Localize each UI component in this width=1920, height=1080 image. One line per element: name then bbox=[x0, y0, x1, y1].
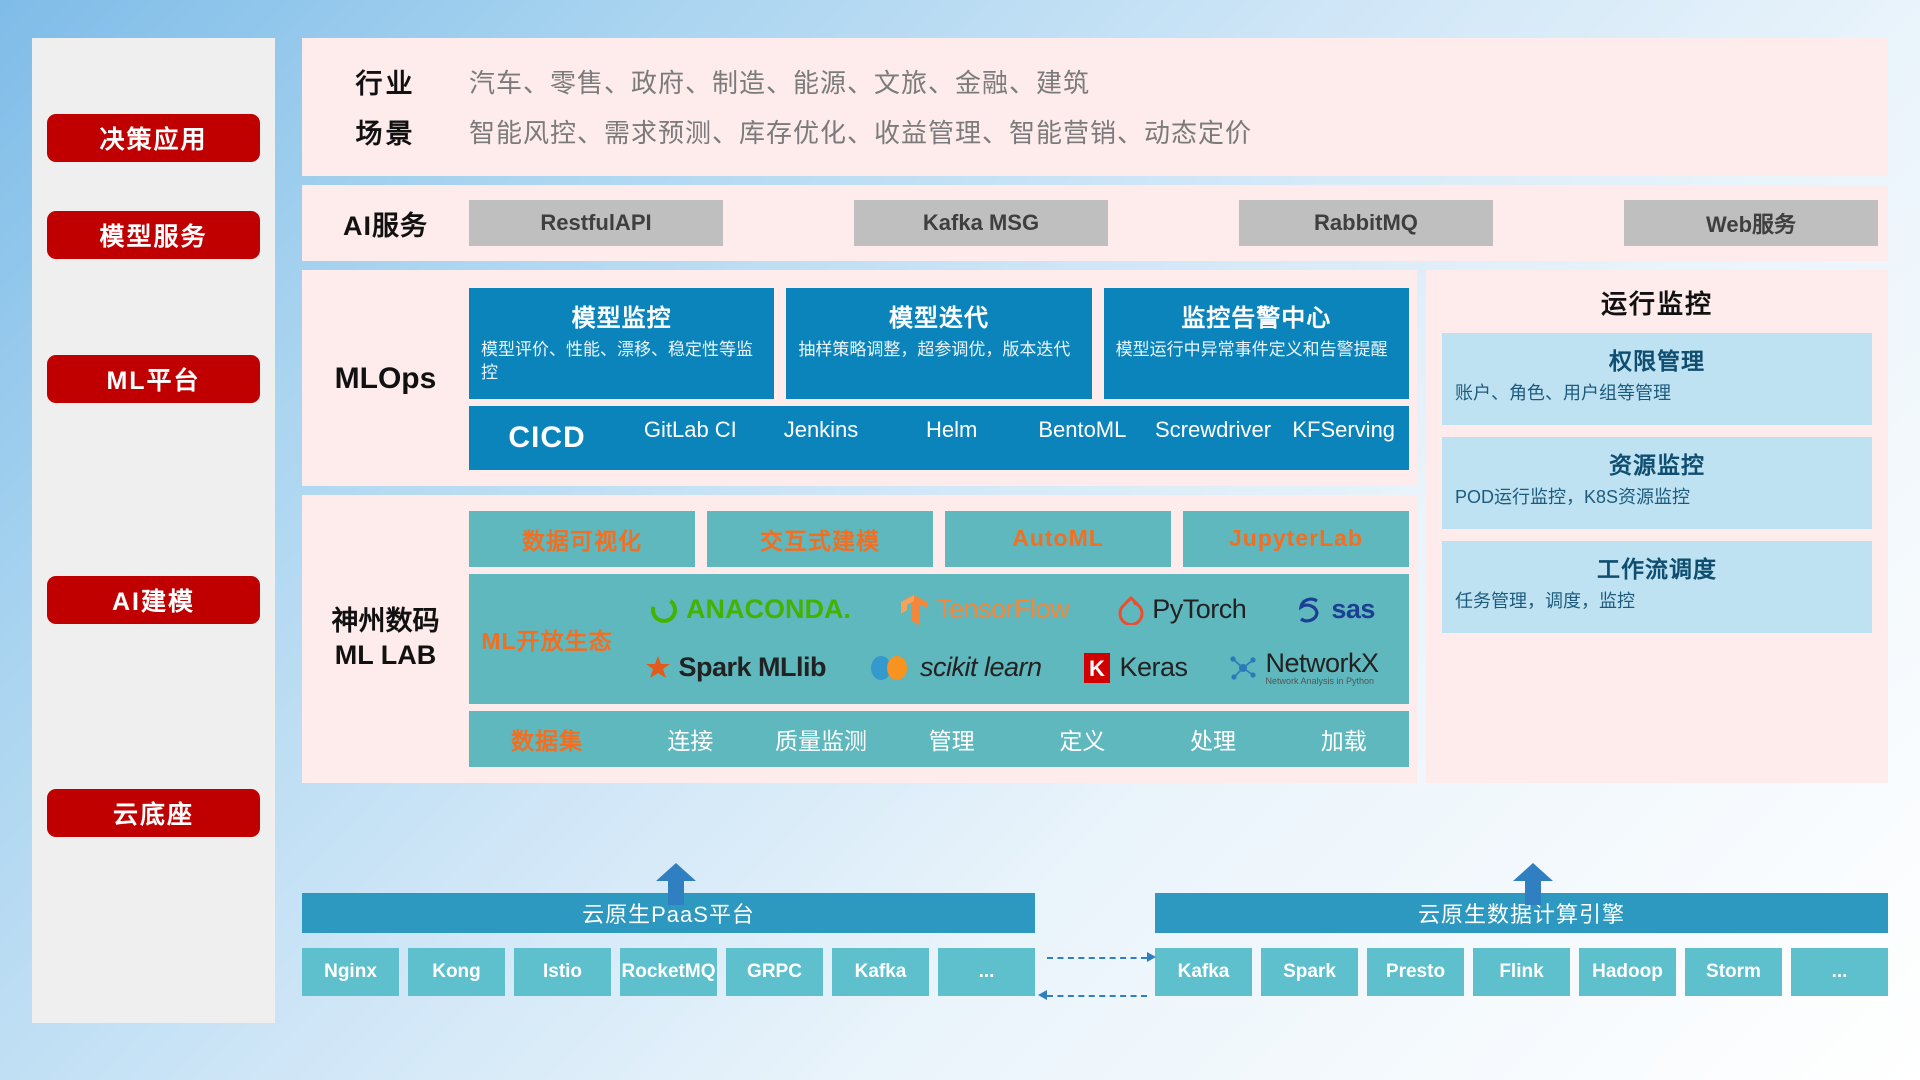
dataset-label: 数据集 bbox=[469, 722, 625, 756]
ml-lab-body: 数据可视化 交互式建模 AutoML JupyterLab ML开放生态 bbox=[469, 511, 1417, 767]
svg-text:K: K bbox=[1090, 656, 1106, 681]
architecture-diagram: 决策应用 模型服务 ML平台 AI建模 云底座 行业 汽车、零售、政府、制造、能… bbox=[0, 0, 1920, 1080]
decision-app-band: 行业 汽车、零售、政府、制造、能源、文旅、金融、建筑 场景 智能风控、需求预测、… bbox=[302, 38, 1888, 176]
mlops-card-title: 模型迭代 bbox=[798, 298, 1079, 333]
mlops-card-alert-center[interactable]: 监控告警中心 模型运行中异常事件定义和告警提醒 bbox=[1104, 288, 1409, 399]
connector-arrowhead-left-icon bbox=[1038, 990, 1047, 1000]
paas-tag-kong[interactable]: Kong bbox=[408, 948, 505, 996]
cloud-columns: 云原生PaaS平台 Nginx Kong Istio RocketMQ GRPC… bbox=[302, 893, 1888, 996]
cicd-item-list: GitLab CI Jenkins Helm BentoML Screwdriv… bbox=[625, 417, 1409, 459]
monitor-card-permission[interactable]: 权限管理 账户、角色、用户组等管理 bbox=[1442, 333, 1872, 425]
scikit-learn-icon bbox=[867, 653, 913, 683]
ai-modeling-band: 神州数码 ML LAB 数据可视化 交互式建模 AutoML JupyterLa… bbox=[302, 495, 1417, 783]
mlops-card-list: 模型监控 模型评价、性能、漂移、稳定性等监控 模型迭代 抽样策略调整，超参调优，… bbox=[469, 288, 1409, 399]
scenario-value: 智能风控、需求预测、库存优化、收益管理、智能营销、动态定价 bbox=[469, 113, 1252, 150]
tensorflow-logo-text: TensorFlow bbox=[936, 594, 1069, 625]
cicd-item-jenkins[interactable]: Jenkins bbox=[756, 417, 887, 459]
ml-ecosystem-label: ML开放生态 bbox=[469, 622, 625, 656]
cicd-label: CICD bbox=[469, 421, 625, 455]
cicd-item-gitlab-ci[interactable]: GitLab CI bbox=[625, 417, 756, 459]
ml-ecosystem-logos-row2: Spark MLlib scikit learn bbox=[625, 640, 1399, 696]
cicd-item-screwdriver[interactable]: Screwdriver bbox=[1148, 417, 1279, 459]
ai-service-label: AI服务 bbox=[302, 204, 469, 243]
anaconda-icon bbox=[649, 595, 679, 625]
monitor-card-title: 工作流调度 bbox=[1455, 550, 1859, 584]
keras-icon: K bbox=[1082, 652, 1112, 684]
mlops-label: MLOps bbox=[302, 288, 469, 470]
compute-engine-tag-list: Kafka Spark Presto Flink Hadoop Storm ..… bbox=[1155, 948, 1888, 996]
monitor-card-title: 资源监控 bbox=[1455, 446, 1859, 480]
cicd-item-kfserving[interactable]: KFServing bbox=[1278, 417, 1409, 459]
ai-service-chip-kafka-msg[interactable]: Kafka MSG bbox=[854, 200, 1108, 246]
mlops-card-desc: 模型评价、性能、漂移、稳定性等监控 bbox=[481, 339, 762, 385]
cloud-base-layer: 云原生PaaS平台 Nginx Kong Istio RocketMQ GRPC… bbox=[302, 893, 1888, 1023]
dataset-item-connect[interactable]: 连接 bbox=[625, 722, 756, 756]
pytorch-logo-text: PyTorch bbox=[1152, 594, 1246, 625]
compute-tag-presto[interactable]: Presto bbox=[1367, 948, 1464, 996]
compute-tag-hadoop[interactable]: Hadoop bbox=[1579, 948, 1676, 996]
paas-tag-more[interactable]: ... bbox=[938, 948, 1035, 996]
spark-mllib-logo: Spark MLlib bbox=[645, 652, 826, 683]
rail-item-cloud-base[interactable]: 云底座 bbox=[47, 789, 260, 837]
compute-engine-column: 云原生数据计算引擎 Kafka Spark Presto Flink Hadoo… bbox=[1155, 893, 1888, 996]
connector-dashed-left bbox=[1047, 995, 1147, 997]
sas-icon bbox=[1294, 596, 1324, 624]
sas-logo-text: sas bbox=[1331, 594, 1375, 625]
mlops-body: 模型监控 模型评价、性能、漂移、稳定性等监控 模型迭代 抽样策略调整，超参调优，… bbox=[469, 288, 1417, 470]
runtime-monitor-panel: 运行监控 权限管理 账户、角色、用户组等管理 资源监控 POD运行监控，K8S资… bbox=[1426, 270, 1888, 783]
platform-column: MLOps 模型监控 模型评价、性能、漂移、稳定性等监控 模型迭代 抽样策略调整… bbox=[302, 270, 1417, 783]
ml-lab-label: 神州数码 ML LAB bbox=[302, 511, 469, 767]
pytorch-icon bbox=[1117, 595, 1145, 625]
ml-lab-label-line2: ML LAB bbox=[335, 639, 437, 673]
connector-dashed-right bbox=[1047, 957, 1147, 959]
paas-column: 云原生PaaS平台 Nginx Kong Istio RocketMQ GRPC… bbox=[302, 893, 1035, 996]
ml-tool-row: 数据可视化 交互式建模 AutoML JupyterLab bbox=[469, 511, 1409, 567]
industry-value: 汽车、零售、政府、制造、能源、文旅、金融、建筑 bbox=[469, 63, 1090, 100]
paas-tag-istio[interactable]: Istio bbox=[514, 948, 611, 996]
cicd-item-bentoml[interactable]: BentoML bbox=[1017, 417, 1148, 459]
paas-tag-list: Nginx Kong Istio RocketMQ GRPC Kafka ... bbox=[302, 948, 1035, 996]
mlops-card-model-monitoring[interactable]: 模型监控 模型评价、性能、漂移、稳定性等监控 bbox=[469, 288, 774, 399]
tensorflow-icon bbox=[899, 594, 929, 626]
monitor-card-desc: 账户、角色、用户组等管理 bbox=[1455, 381, 1859, 405]
dataset-item-manage[interactable]: 管理 bbox=[886, 722, 1017, 756]
compute-tag-spark[interactable]: Spark bbox=[1261, 948, 1358, 996]
keras-logo-text: Keras bbox=[1119, 652, 1187, 683]
ml-ecosystem-row: ML开放生态 ANACONDA. bbox=[469, 574, 1409, 704]
ml-lab-label-line1: 神州数码 bbox=[332, 605, 440, 639]
monitor-card-resource[interactable]: 资源监控 POD运行监控，K8S资源监控 bbox=[1442, 437, 1872, 529]
scenario-row: 场景 智能风控、需求预测、库存优化、收益管理、智能营销、动态定价 bbox=[302, 106, 1888, 156]
tensorflow-logo: TensorFlow bbox=[899, 594, 1069, 626]
cicd-row: CICD GitLab CI Jenkins Helm BentoML Scre… bbox=[469, 406, 1409, 470]
ai-service-list: RestfulAPI Kafka MSG RabbitMQ Web服务 bbox=[469, 200, 1888, 246]
ml-ecosystem-logos-row1: ANACONDA. TensorFlow bbox=[625, 582, 1399, 638]
monitor-card-desc: 任务管理，调度，监控 bbox=[1455, 589, 1859, 613]
monitor-card-workflow[interactable]: 工作流调度 任务管理，调度，监控 bbox=[1442, 541, 1872, 633]
dataset-item-load[interactable]: 加载 bbox=[1278, 722, 1409, 756]
layer-rail: 决策应用 模型服务 ML平台 AI建模 云底座 bbox=[32, 38, 275, 1023]
arrow-up-paas-icon bbox=[656, 863, 696, 905]
dataset-item-list: 连接 质量监测 管理 定义 处理 加载 bbox=[625, 722, 1409, 756]
mlops-card-title: 监控告警中心 bbox=[1116, 298, 1397, 333]
anaconda-logo: ANACONDA. bbox=[649, 594, 851, 625]
mlops-card-model-iteration[interactable]: 模型迭代 抽样策略调整，超参调优，版本迭代 bbox=[786, 288, 1091, 399]
rail-item-ml-platform[interactable]: ML平台 bbox=[47, 355, 260, 403]
rail-item-ai-modeling[interactable]: AI建模 bbox=[47, 576, 260, 624]
networkx-logo-text: NetworkX bbox=[1265, 650, 1378, 677]
ai-service-chip-rabbitmq[interactable]: RabbitMQ bbox=[1239, 200, 1493, 246]
paas-tag-kafka[interactable]: Kafka bbox=[832, 948, 929, 996]
ai-service-chip-web[interactable]: Web服务 bbox=[1624, 200, 1878, 246]
ml-ecosystem-logos: ANACONDA. TensorFlow bbox=[625, 582, 1409, 696]
dataset-item-define[interactable]: 定义 bbox=[1017, 722, 1148, 756]
mlops-card-desc: 抽样策略调整，超参调优，版本迭代 bbox=[798, 339, 1079, 362]
mlops-card-desc: 模型运行中异常事件定义和告警提醒 bbox=[1116, 339, 1397, 362]
ai-service-chip-restfulapi[interactable]: RestfulAPI bbox=[469, 200, 723, 246]
networkx-icon bbox=[1228, 653, 1258, 683]
industry-label: 行业 bbox=[302, 62, 469, 101]
monitor-card-desc: POD运行监控，K8S资源监控 bbox=[1455, 485, 1859, 509]
platform-wrapper: MLOps 模型监控 模型评价、性能、漂移、稳定性等监控 模型迭代 抽样策略调整… bbox=[302, 270, 1888, 783]
dataset-row: 数据集 连接 质量监测 管理 定义 处理 加载 bbox=[469, 711, 1409, 767]
spark-mllib-logo-text: Spark MLlib bbox=[678, 652, 826, 683]
paas-tag-grpc[interactable]: GRPC bbox=[726, 948, 823, 996]
dataset-item-process[interactable]: 处理 bbox=[1148, 722, 1279, 756]
keras-logo: K Keras bbox=[1082, 652, 1187, 684]
anaconda-logo-text: ANACONDA. bbox=[686, 594, 851, 625]
ml-tool-interactive-modeling[interactable]: 交互式建模 bbox=[707, 511, 933, 567]
compute-tag-kafka[interactable]: Kafka bbox=[1155, 948, 1252, 996]
ml-tool-automl[interactable]: AutoML bbox=[945, 511, 1171, 567]
networkx-logo: NetworkX Network Analysis in Python bbox=[1228, 650, 1378, 686]
monitor-card-title: 权限管理 bbox=[1455, 342, 1859, 376]
paas-tag-nginx[interactable]: Nginx bbox=[302, 948, 399, 996]
mlops-card-title: 模型监控 bbox=[481, 298, 762, 333]
scikit-learn-logo-text: scikit learn bbox=[920, 652, 1042, 683]
dataset-item-quality[interactable]: 质量监测 bbox=[756, 722, 887, 756]
scikit-learn-logo: scikit learn bbox=[867, 652, 1042, 683]
paas-tag-rocketmq[interactable]: RocketMQ bbox=[620, 948, 717, 996]
pytorch-logo: PyTorch bbox=[1117, 594, 1246, 625]
compute-tag-flink[interactable]: Flink bbox=[1473, 948, 1570, 996]
networkx-logo-subtext: Network Analysis in Python bbox=[1265, 677, 1378, 686]
cicd-item-helm[interactable]: Helm bbox=[886, 417, 1017, 459]
runtime-monitor-title: 运行监控 bbox=[1442, 284, 1872, 321]
industry-row: 行业 汽车、零售、政府、制造、能源、文旅、金融、建筑 bbox=[302, 56, 1888, 106]
sas-logo: sas bbox=[1294, 594, 1375, 625]
ml-tool-data-visualization[interactable]: 数据可视化 bbox=[469, 511, 695, 567]
rail-item-decision-app[interactable]: 决策应用 bbox=[47, 114, 260, 162]
mlops-band: MLOps 模型监控 模型评价、性能、漂移、稳定性等监控 模型迭代 抽样策略调整… bbox=[302, 270, 1417, 486]
rail-item-model-service[interactable]: 模型服务 bbox=[47, 211, 260, 259]
scenario-label: 场景 bbox=[302, 112, 469, 151]
compute-tag-storm[interactable]: Storm bbox=[1685, 948, 1782, 996]
arrow-up-compute-icon bbox=[1513, 863, 1553, 905]
spark-icon bbox=[645, 655, 671, 681]
connector-arrowhead-right-icon bbox=[1147, 952, 1156, 962]
compute-tag-more[interactable]: ... bbox=[1791, 948, 1888, 996]
ai-service-band: AI服务 RestfulAPI Kafka MSG RabbitMQ Web服务 bbox=[302, 185, 1888, 261]
main-column: 行业 汽车、零售、政府、制造、能源、文旅、金融、建筑 场景 智能风控、需求预测、… bbox=[302, 38, 1888, 783]
ml-tool-jupyterlab[interactable]: JupyterLab bbox=[1183, 511, 1409, 567]
